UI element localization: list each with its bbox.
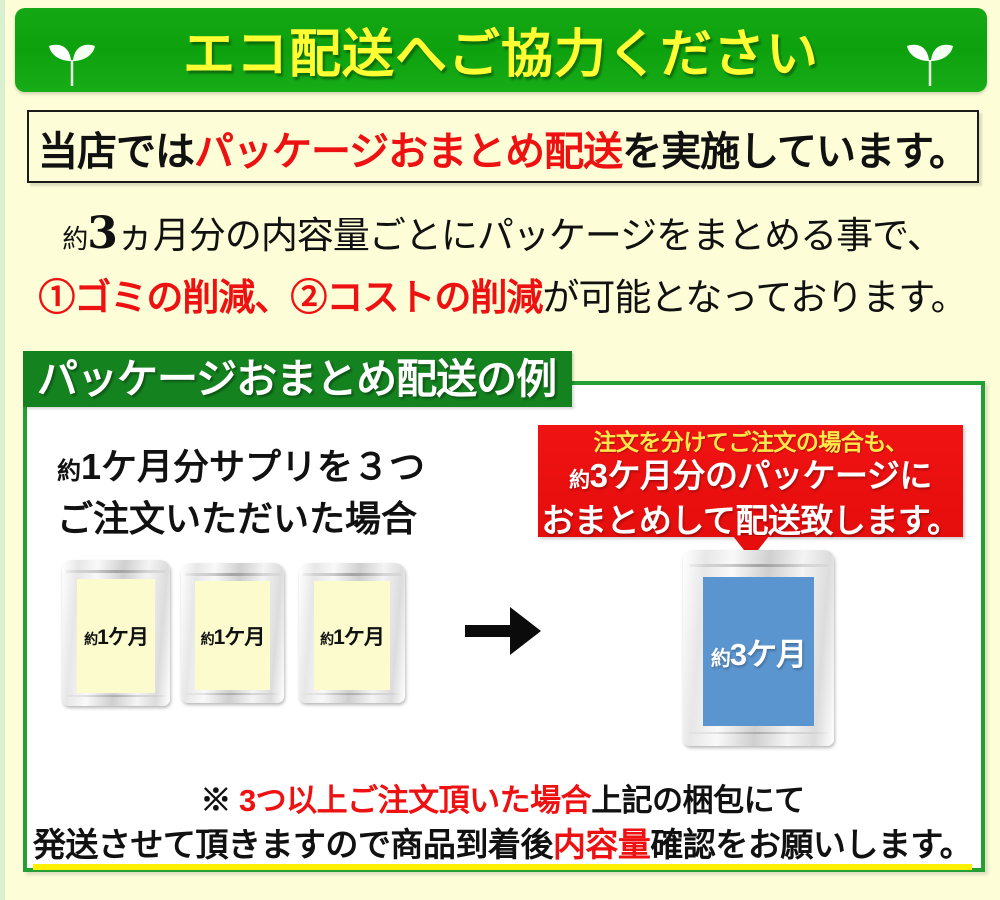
statement-suffix: を実施しています。: [622, 128, 968, 175]
bundling-callout-approx: 約: [569, 469, 590, 492]
statement-text: 当店ではパッケージおまとめ配送を実施しています。: [29, 119, 977, 177]
note-line-2-b: 確認をお願いします。: [650, 826, 972, 870]
bundling-callout-line-1: 注文を分けてご注文の場合も、: [538, 425, 963, 456]
order-case-caption-line-1: 約1ケ月分サプリを３つ: [57, 443, 425, 495]
package-large: 約3ケ月: [683, 550, 834, 746]
bundling-callout-line-2: 約3ケ月分のパッケージに: [538, 456, 963, 501]
order-case-line-1-rest: 1ケ月分サプリを３つ: [81, 446, 425, 487]
lead-benefit-1: ①ゴミの削減: [38, 275, 254, 319]
package-label-text: 約1ケ月: [201, 621, 265, 651]
lead-benefit-2: ②コストの削減: [290, 275, 542, 319]
lead-line-1-number: 3: [87, 208, 117, 259]
statement-box: 当店ではパッケージおまとめ配送を実施しています。: [27, 110, 979, 183]
package-label-duration: 1ケ月: [97, 626, 148, 649]
lead-line-1: 約3ヵ月分の内容量ごとにパッケージをまとめる事で、: [5, 205, 1000, 259]
note-line-2-highlight: 内容量: [553, 826, 651, 870]
package-label-approx: 約: [320, 631, 333, 647]
right-arrow-icon: [463, 604, 543, 658]
package-small: 約1ケ月: [62, 560, 170, 706]
note-mark: ※: [200, 783, 239, 818]
order-case-approx: 約: [57, 458, 81, 485]
package-label: 約3ケ月: [703, 577, 815, 726]
bundling-callout-line-3: おまとめして配送致します。: [538, 501, 963, 541]
package-label-text: 約3ケ月: [711, 629, 806, 674]
note-line-1-highlight: 3つ以上ご注文頂いた場合: [239, 783, 591, 818]
package-small: 約1ケ月: [181, 563, 284, 703]
package-label-duration: 3ケ月: [730, 637, 806, 672]
header-banner: エコ配送へご協力ください: [15, 8, 987, 92]
package-label-duration: 1ケ月: [333, 626, 384, 649]
note-line-2: 発送させて頂きますので商品到着後内容量確認をお願いします。: [5, 818, 1000, 866]
order-case-caption-line-2: ご注文いただいた場合: [57, 495, 425, 542]
package-label: 約1ケ月: [195, 581, 269, 690]
package-label: 約1ケ月: [314, 581, 390, 690]
package-label-approx: 約: [84, 631, 97, 647]
lead-line-2-rest: が可能となっております。: [542, 276, 966, 319]
package-label-text: 約1ケ月: [84, 621, 148, 651]
note-line-1: ※ 3つ以上ご注文頂いた場合上記の梱包にて: [5, 775, 1000, 820]
package-label-approx: 約: [711, 648, 730, 670]
bundling-callout-line-2-rest: 3ケ月分のパッケージに: [590, 457, 932, 494]
bundling-callout: 注文を分けてご注文の場合も、 約3ケ月分のパッケージに おまとめして配送致します…: [538, 425, 963, 537]
package-label: 約1ケ月: [77, 579, 155, 693]
lead-benefit-separator: 、: [254, 275, 290, 319]
package-label-approx: 約: [201, 631, 214, 647]
order-case-caption: 約1ケ月分サプリを３つ ご注文いただいた場合: [57, 443, 425, 542]
statement-highlight: パッケージおまとめ配送: [194, 128, 622, 175]
note-line-2-a: 発送させて頂きますので商品到着後: [33, 826, 553, 870]
example-section-tab-label: パッケージおまとめ配送の例: [37, 351, 556, 407]
lead-line-2: ①ゴミの削減、②コストの削減が可能となっております。: [5, 267, 1000, 321]
statement-prefix: 当店では: [38, 128, 194, 175]
note-line-1-rest: 上記の梱包にて: [591, 783, 805, 818]
package-small: 約1ケ月: [299, 563, 405, 703]
page-title: エコ配送へご協力ください: [15, 12, 987, 87]
eco-shipping-notice-page: エコ配送へご協力ください 当店ではパッケージおまとめ配送を実施しています。 約3…: [0, 0, 1000, 900]
lead-line-1-approx: 約: [62, 225, 87, 255]
lead-line-1-rest: ヵ月分の内容量ごとにパッケージをまとめる事で、: [117, 214, 943, 257]
sprout-icon: [901, 34, 959, 88]
example-section-tab: パッケージおまとめ配送の例: [23, 351, 572, 407]
package-label-text: 約1ケ月: [320, 621, 384, 651]
package-label-duration: 1ケ月: [214, 626, 265, 649]
